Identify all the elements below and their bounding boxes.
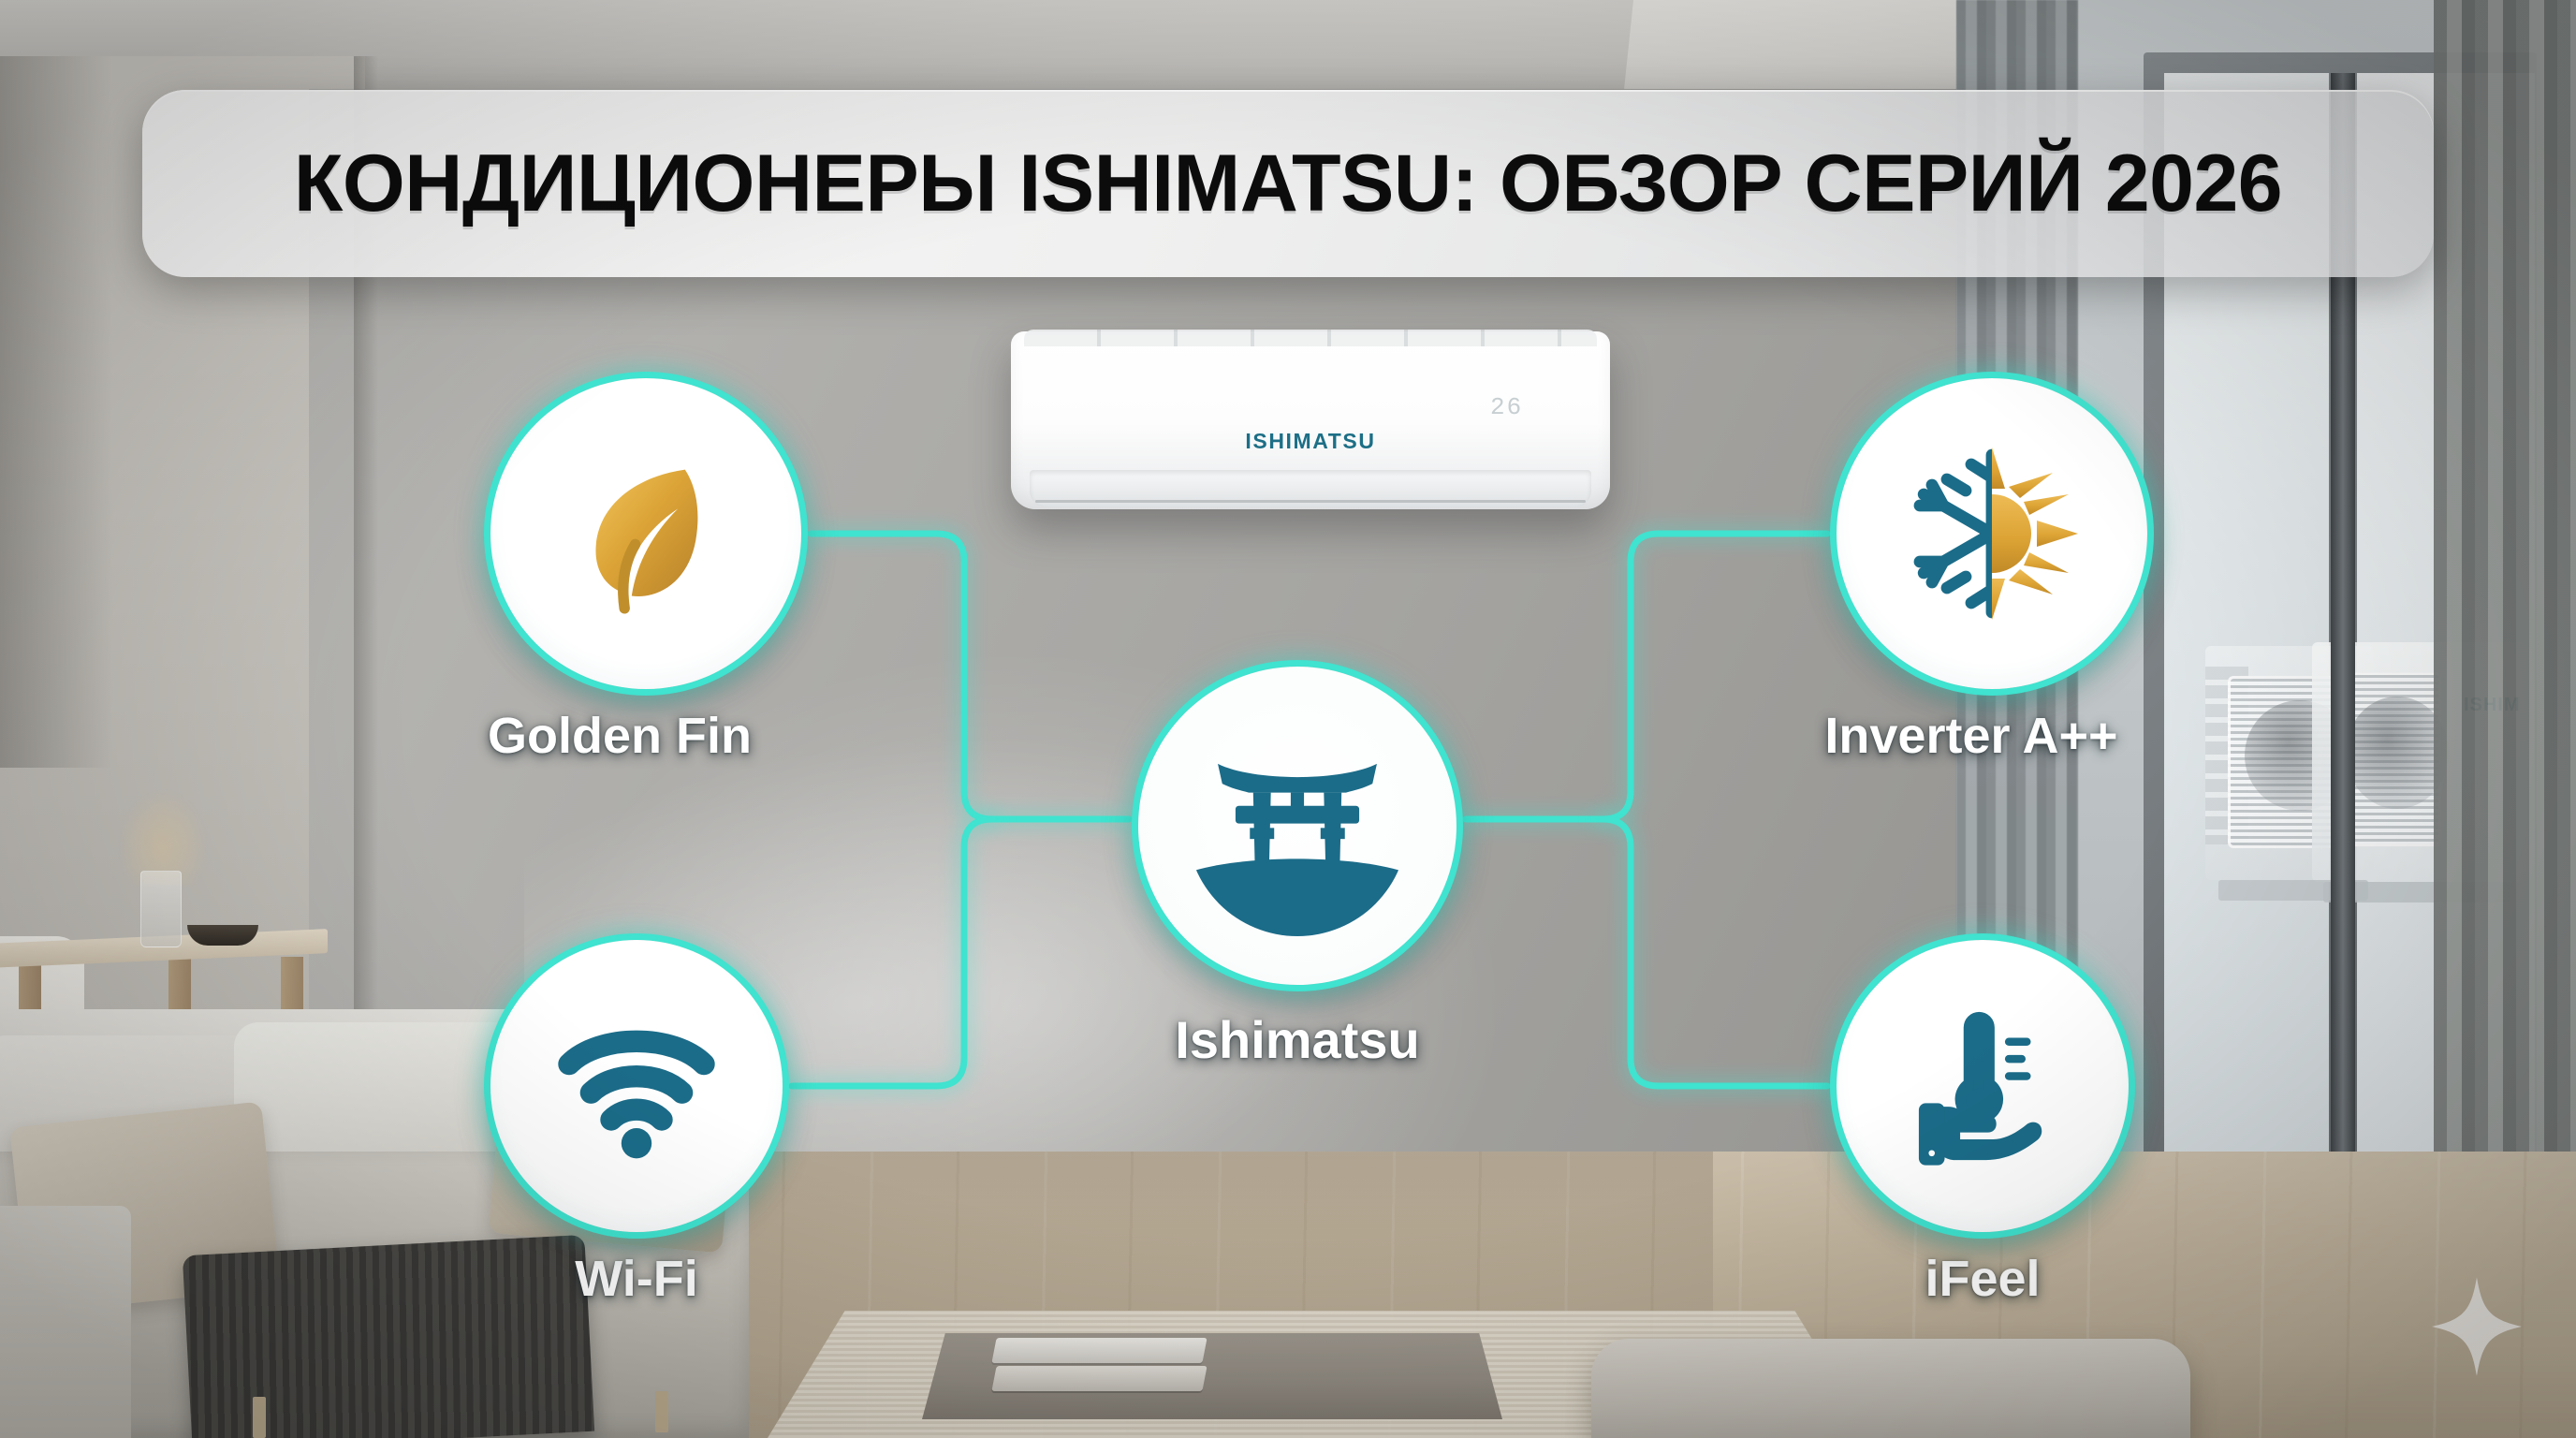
feature-label: Wi-Fi <box>490 1253 783 1306</box>
feature-icon-circle <box>490 940 783 1232</box>
book <box>991 1366 1207 1391</box>
feature-node-inverter[interactable]: Inverter A++ <box>1837 378 2147 763</box>
left-alcove-shadow <box>0 56 112 768</box>
feature-node-wifi[interactable]: Wi-Fi <box>490 940 783 1306</box>
book-stack <box>994 1338 1205 1396</box>
hand-thermometer-icon <box>1896 1000 2069 1172</box>
feature-label: Golden Fin <box>464 710 775 763</box>
sofa-leg <box>253 1397 266 1438</box>
feature-node-golden-fin[interactable]: Golden Fin <box>490 378 801 763</box>
glass-vase <box>140 871 182 947</box>
leaf-icon <box>557 445 735 623</box>
sparkle-icon <box>2432 1277 2522 1376</box>
center-icon-circle <box>1138 667 1456 985</box>
snowflake-sun-icon <box>1898 440 2086 627</box>
ac-intake-grill <box>1024 330 1597 346</box>
indoor-ac-unit: 26 ISHIMATSU <box>1011 316 1610 532</box>
ottoman <box>1591 1339 2190 1438</box>
decor-bowl <box>187 925 258 946</box>
feature-node-ifeel[interactable]: iFeel <box>1837 940 2129 1306</box>
center-node-ishimatsu[interactable]: Ishimatsu <box>1138 667 1456 1068</box>
feature-label: Inverter A++ <box>1816 710 2127 763</box>
ac-display-temperature: 26 <box>1490 393 1523 421</box>
feature-icon-circle <box>1837 378 2147 689</box>
feature-icon-circle <box>1837 940 2129 1232</box>
title-banner: КОНДИЦИОНЕРЫ ISHIMATSU: ОБЗОР СЕРИЙ 2026 <box>142 90 2434 277</box>
page-title: КОНДИЦИОНЕРЫ ISHIMATSU: ОБЗОР СЕРИЙ 2026 <box>294 143 2282 224</box>
infographic-canvas: ISHIM 26 ISHIMATSU <box>0 0 2576 1438</box>
sofa-armrest <box>0 1206 131 1438</box>
center-label: Ishimatsu <box>1138 1013 1456 1068</box>
feature-label: iFeel <box>1837 1253 2129 1306</box>
torii-gate-icon <box>1187 715 1408 936</box>
feature-icon-circle <box>490 378 801 689</box>
ac-louver-seam <box>1035 500 1586 503</box>
ac-brand-logo: ISHIMATSU <box>1011 429 1610 454</box>
book <box>991 1338 1207 1363</box>
sofa-leg <box>655 1391 668 1432</box>
wifi-icon <box>552 1011 721 1161</box>
